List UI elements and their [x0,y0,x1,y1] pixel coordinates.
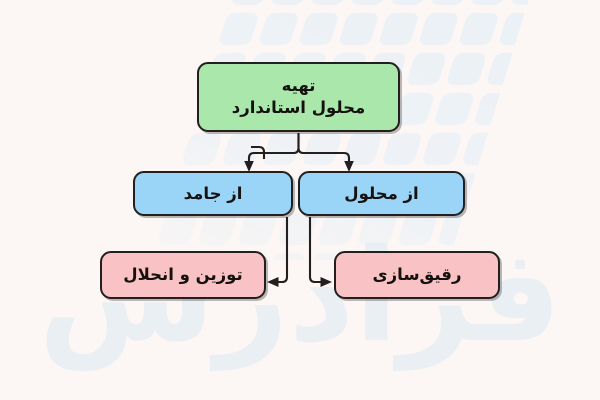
node-from-solution[interactable]: از محلول [298,171,465,216]
node-from-solid[interactable]: از جامد [133,171,293,216]
node-weigh-dissolve[interactable]: توزین و انحلال [100,251,266,299]
edge-standard-to-from-solid [249,133,299,164]
edge-standard-to-branches [251,133,299,159]
node-standard-solution[interactable]: تهیه محلول استاندارد [197,62,400,132]
node-dilution[interactable]: رقیق‌سازی [334,251,500,299]
edge-standard-to-from-solution [299,148,350,164]
edge-from-solid-to-weigh-dissolve [276,217,287,282]
arrowhead-to-dilution [321,277,333,287]
edge-from-solution-to-dilution [310,217,322,282]
arrowhead-to-weigh-dissolve [267,277,279,287]
flowchart-canvas: فرادرس تهیه محلول استاندارد از جامد از م… [0,0,600,400]
